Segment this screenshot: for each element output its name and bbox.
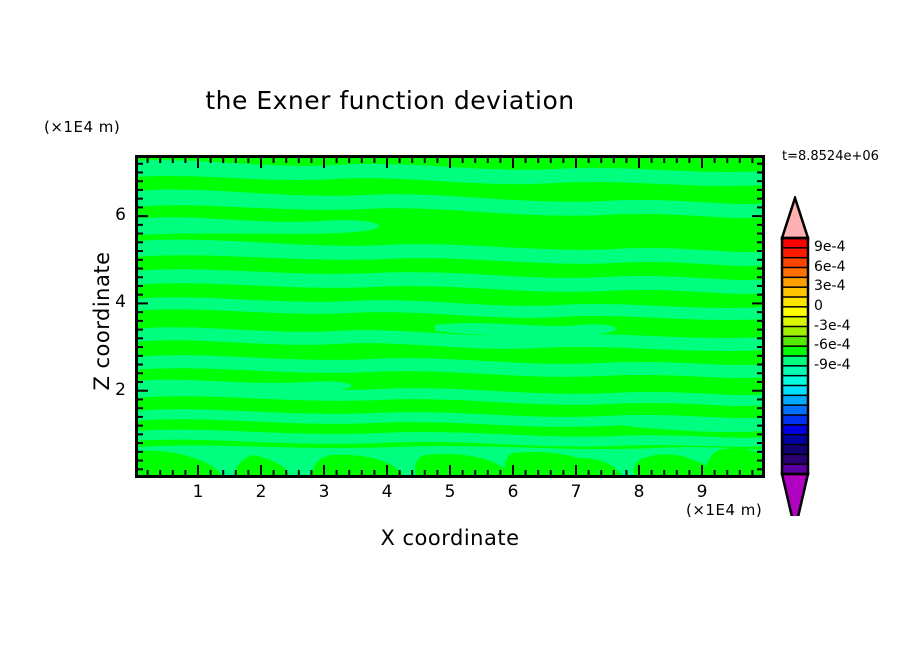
colorbar-tick-label: 9e-4 <box>814 239 845 255</box>
colorbar-tick-label: 3e-4 <box>814 278 845 294</box>
x-tick-label: 8 <box>624 482 654 502</box>
x-tick-label: 3 <box>309 482 339 502</box>
colorbar-tick-label: 0 <box>814 298 823 314</box>
x-axis-title: X coordinate <box>135 526 765 550</box>
axis-ticks <box>135 155 765 478</box>
x-axis-unit-label: (×1E4 m) <box>686 501 762 519</box>
colorbar-under-arrow <box>782 474 808 516</box>
colorbar <box>778 196 818 516</box>
colorbar-tick-label: -3e-4 <box>814 318 851 334</box>
x-tick-label: 5 <box>435 482 465 502</box>
y-axis-title: Z coordinate <box>90 171 114 471</box>
page-title: the Exner function deviation <box>0 86 780 115</box>
x-tick-label: 6 <box>498 482 528 502</box>
x-tick-label: 1 <box>183 482 213 502</box>
x-tick-label: 2 <box>246 482 276 502</box>
x-tick-label: 9 <box>687 482 717 502</box>
colorbar-over-arrow <box>782 198 808 238</box>
x-tick-label: 4 <box>372 482 402 502</box>
time-stamp-annotation: t=8.8524e+06 <box>782 149 879 164</box>
x-tick-label: 7 <box>561 482 591 502</box>
y-axis-unit-label: (×1E4 m) <box>44 118 120 136</box>
colorbar-tick-label: -6e-4 <box>814 337 851 353</box>
colorbar-tick-label: 6e-4 <box>814 259 845 275</box>
colorbar-tick-label: -9e-4 <box>814 357 851 373</box>
colorbar-bands <box>782 238 808 475</box>
